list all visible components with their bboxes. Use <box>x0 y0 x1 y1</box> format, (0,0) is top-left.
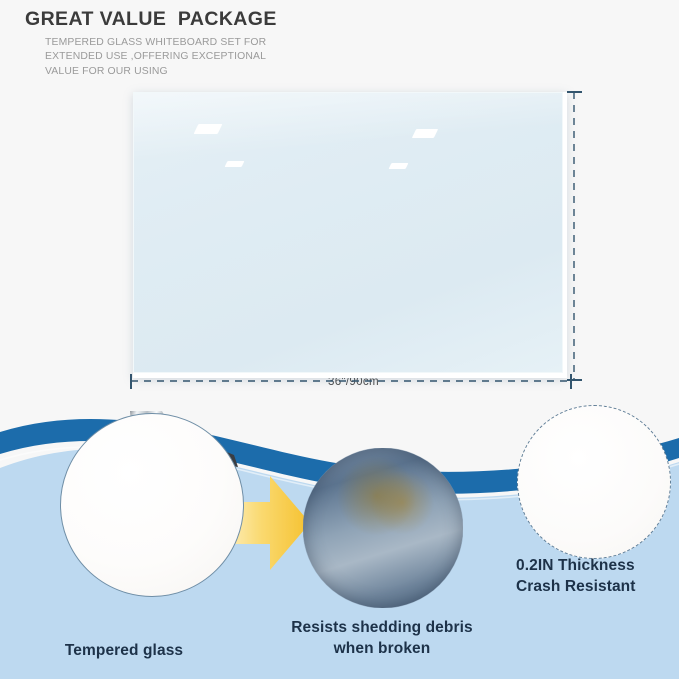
page-subtitle: TEMPERED GLASS WHITEBOARD SET FOR EXTEND… <box>45 36 285 79</box>
height-dimension-line <box>566 88 588 384</box>
light-reflection-icon <box>225 161 245 167</box>
glass-sheen <box>134 93 562 372</box>
light-reflection-icon <box>389 163 409 169</box>
infographic-canvas: GREAT VALUE PACKAGE TEMPERED GLASS WHITE… <box>0 0 679 679</box>
feature-label-shedding-debris: Resists shedding debris when broken <box>252 617 512 659</box>
light-reflection-icon <box>412 129 438 138</box>
width-dimension-line <box>125 370 577 392</box>
feature-circle-tempered-glass <box>60 413 244 597</box>
feature-circle-shattered-glass <box>303 448 463 608</box>
page-title: GREAT VALUE PACKAGE <box>25 8 277 31</box>
feature-label-tempered-glass: Tempered glass <box>0 640 248 661</box>
whiteboard-glass-surface <box>133 92 563 373</box>
light-reflection-icon <box>194 124 223 134</box>
header-block: GREAT VALUE PACKAGE TEMPERED GLASS WHITE… <box>0 0 679 92</box>
product-whiteboard <box>131 90 567 378</box>
feature-circle-thickness <box>517 405 671 559</box>
feature-label-thickness: 0.2IN Thickness Crash Resistant <box>516 555 679 597</box>
